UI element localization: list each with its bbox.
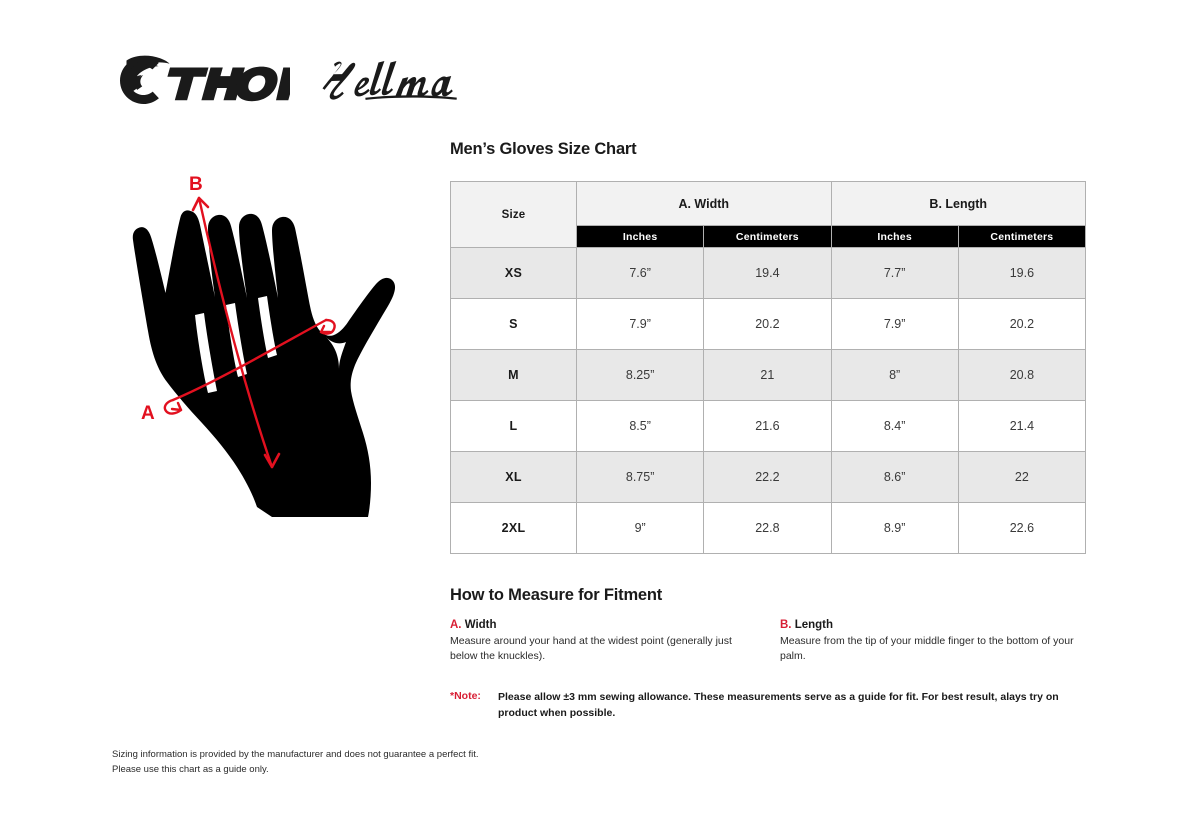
cell-width-centimeters: 19.4 <box>704 248 831 299</box>
cell-width-inches: 7.9” <box>577 299 704 350</box>
column-header-width-inches: Inches <box>577 226 704 248</box>
how-to-measure-title: How to Measure for Fitment <box>450 586 1086 605</box>
page-title: Men’s Gloves Size Chart <box>450 140 1086 159</box>
cell-width-inches: 9” <box>577 503 704 554</box>
note-label: *Note: <box>450 690 498 722</box>
cell-width-inches: 8.5” <box>577 401 704 452</box>
cell-length-inches: 7.9” <box>831 299 958 350</box>
measure-item-length-heading: B. Length <box>780 619 1086 631</box>
cell-size: XL <box>451 452 577 503</box>
table-row: XL8.75”22.28.6”22 <box>451 452 1086 503</box>
cell-length-inches: 7.7” <box>831 248 958 299</box>
column-group-header-width: A. Width <box>577 182 832 226</box>
cell-length-inches: 8.9” <box>831 503 958 554</box>
cell-size: S <box>451 299 577 350</box>
column-header-length-centimeters: Centimeters <box>958 226 1085 248</box>
cell-length-centimeters: 22.6 <box>958 503 1085 554</box>
cell-width-centimeters: 22.2 <box>704 452 831 503</box>
measure-name-width: Width <box>465 619 497 631</box>
table-row: L8.5”21.68.4”21.4 <box>451 401 1086 452</box>
table-header: Size A. Width B. Length Inches Centimete… <box>451 182 1086 248</box>
footer-line-2: Please use this chart as a guide only. <box>112 763 479 778</box>
size-chart-table: Size A. Width B. Length Inches Centimete… <box>450 181 1086 554</box>
measure-item-width-heading: A. Width <box>450 619 744 631</box>
cell-length-centimeters: 21.4 <box>958 401 1085 452</box>
table-row: M8.25”218”20.8 <box>451 350 1086 401</box>
table-header-row-groups: Size A. Width B. Length <box>451 182 1086 226</box>
label-a: A <box>141 403 155 424</box>
cell-width-centimeters: 20.2 <box>704 299 831 350</box>
cell-width-centimeters: 21.6 <box>704 401 831 452</box>
cell-width-inches: 8.25” <box>577 350 704 401</box>
cell-length-centimeters: 19.6 <box>958 248 1085 299</box>
cell-size: 2XL <box>451 503 577 554</box>
hand-diagram: B A <box>120 165 420 535</box>
table-row: 2XL9”22.88.9”22.6 <box>451 503 1086 554</box>
table-row: XS7.6”19.47.7”19.6 <box>451 248 1086 299</box>
cell-width-centimeters: 21 <box>704 350 831 401</box>
note-text: Please allow ±3 mm sewing allowance. The… <box>498 690 1086 722</box>
cell-length-inches: 8” <box>831 350 958 401</box>
cell-length-inches: 8.4” <box>831 401 958 452</box>
cell-width-inches: 8.75” <box>577 452 704 503</box>
hallman-logo <box>322 54 462 106</box>
measure-letter-a: A. <box>450 619 462 631</box>
measure-letter-b: B. <box>780 619 792 631</box>
cell-width-centimeters: 22.8 <box>704 503 831 554</box>
column-header-width-centimeters: Centimeters <box>704 226 831 248</box>
measure-item-length: B. Length Measure from the tip of your m… <box>780 619 1086 664</box>
label-b: B <box>189 174 203 195</box>
cell-width-inches: 7.6” <box>577 248 704 299</box>
cell-size: M <box>451 350 577 401</box>
table-row: S7.9”20.27.9”20.2 <box>451 299 1086 350</box>
column-header-length-inches: Inches <box>831 226 958 248</box>
cell-length-inches: 8.6” <box>831 452 958 503</box>
measure-item-width: A. Width Measure around your hand at the… <box>450 619 780 664</box>
how-to-measure-columns: A. Width Measure around your hand at the… <box>450 619 1086 664</box>
note-block: *Note: Please allow ±3 mm sewing allowan… <box>450 690 1086 722</box>
footer-disclaimer: Sizing information is provided by the ma… <box>112 748 479 777</box>
cell-length-centimeters: 20.8 <box>958 350 1085 401</box>
column-header-size: Size <box>451 182 577 248</box>
cell-size: XS <box>451 248 577 299</box>
brand-logo-bar <box>112 50 462 110</box>
measure-item-width-text: Measure around your hand at the widest p… <box>450 634 744 664</box>
size-chart-panel: Men’s Gloves Size Chart Size A. Width B.… <box>450 140 1086 721</box>
column-group-header-length: B. Length <box>831 182 1086 226</box>
cell-length-centimeters: 22 <box>958 452 1085 503</box>
cell-size: L <box>451 401 577 452</box>
table-body: XS7.6”19.47.7”19.6S7.9”20.27.9”20.2M8.25… <box>451 248 1086 554</box>
thor-logo <box>112 54 290 106</box>
footer-line-1: Sizing information is provided by the ma… <box>112 748 479 763</box>
measure-item-length-text: Measure from the tip of your middle fing… <box>780 634 1086 664</box>
measure-name-length: Length <box>795 619 833 631</box>
cell-length-centimeters: 20.2 <box>958 299 1085 350</box>
